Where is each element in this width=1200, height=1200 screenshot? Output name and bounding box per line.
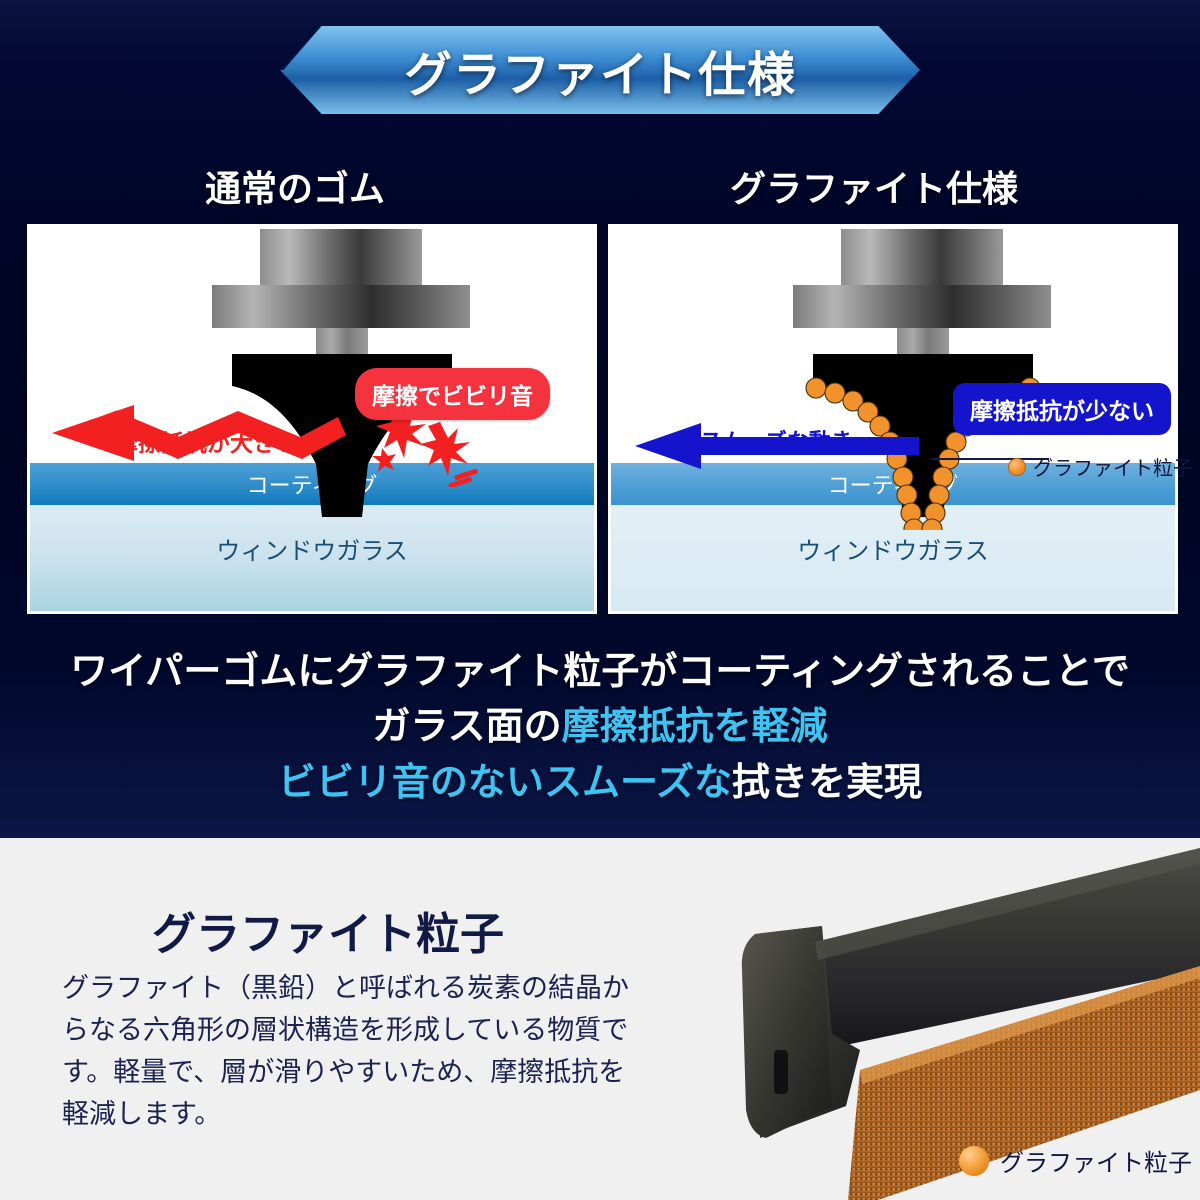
smooth-motion-label: スムーズな動き [700,424,853,456]
bottom-section-heading: グラファイト粒子 [152,898,504,962]
summary-line-1: ワイパーゴムにグラファイト粒子がコーティングされることで [0,648,1200,697]
wiper-holder-flange [212,285,470,328]
header-banner: グラファイト仕様 [280,26,920,114]
bottom-light-section: グラファイト粒子 グラファイト（黒鉛）と呼ばれる炭素の結晶からなる六角形の層状構… [0,838,1200,1200]
graphite-particle-dot-icon [1008,458,1026,476]
left-glass-label: ウィンドウガラス [216,531,408,566]
wiper-holder-top [841,229,1003,285]
chatter-noise-badge: 摩擦でビビリ音 [355,368,550,420]
bottom-section-body: グラファイト（黒鉛）と呼ばれる炭素の結晶からなる六角形の層状構造を形成している物… [62,968,637,1135]
right-panel-title: グラファイト仕様 [730,160,1018,212]
graphite-legend-dot-icon [959,1146,989,1176]
summary-line-3: ビビリ音のないスムーズな拭きを実現 [0,759,1200,808]
top-dark-section: グラファイト仕様 通常のゴム グラファイト仕様 コーティング ウィンドウガラス [0,0,1200,838]
graphite-legend-label: グラファイト粒子 [1000,1143,1192,1178]
summary-text-block: ワイパーゴムにグラファイト粒子がコーティングされることで ガラス面の摩擦抵抗を軽… [0,648,1200,808]
low-friction-badge: 摩擦抵抗が少ない [953,383,1171,435]
wiper-neck [897,328,949,354]
wiper-holder-flange [793,285,1051,328]
wiper-holder-top [260,229,422,285]
graphite-particle-callout-label: グラファイト粒子 [1033,452,1193,481]
graphite-particle-callout: グラファイト粒子 [1008,452,1193,481]
high-friction-label: 摩擦抵抗が大きい [115,424,299,458]
summary-line-2: ガラス面の摩擦抵抗を軽減 [0,703,1200,752]
summary-line-3-plain: 拭きを実現 [732,762,922,804]
summary-line-3-highlight-b: スムーズな [544,762,732,804]
right-glass-label: ウィンドウガラス [797,531,989,566]
graphite-particle-legend: グラファイト粒子 [959,1143,1192,1178]
summary-line-2-plain: ガラス面の [372,706,561,748]
summary-line-2-highlight: 摩擦抵抗を軽減 [562,706,828,748]
banner-title: グラファイト仕様 [280,26,920,114]
wiper-neck [316,328,368,354]
left-panel-title: 通常のゴム [205,160,385,212]
infographic-root: グラファイト仕様 通常のゴム グラファイト仕様 コーティング ウィンドウガラス [0,0,1200,1200]
left-glass-layer: ウィンドウガラス [30,505,594,611]
summary-line-3-highlight-a: ビビリ音のない [278,762,544,804]
